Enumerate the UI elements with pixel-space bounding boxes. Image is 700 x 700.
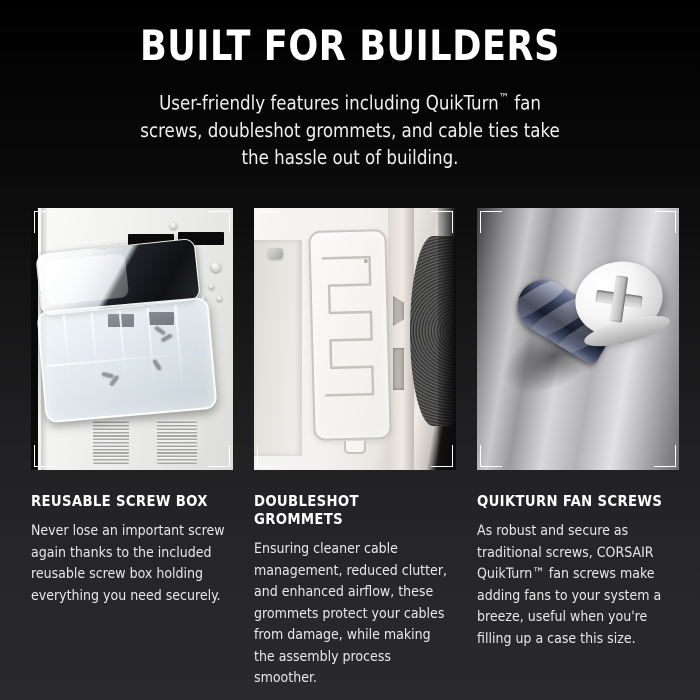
doubleshot-grommet [308, 229, 391, 441]
subtitle-part-1: User-friendly features including QuikTur… [159, 92, 499, 115]
feature-body: Never lose an important screw again than… [31, 520, 225, 606]
feature-body: Ensuring cleaner cable management, reduc… [254, 538, 448, 689]
feature-title: REUSABLE SCREW BOX [31, 492, 223, 510]
page-subtitle: User-friendly features including QuikTur… [127, 85, 574, 171]
quikturn-fan-screw [501, 244, 661, 434]
screw-box-photo [31, 208, 233, 470]
fan-screw-image-panel [477, 208, 679, 470]
grommet-photo [254, 208, 456, 470]
feature-column-doubleshot-grommets: DOUBLESHOT GROMMETS Ensuring cleaner cab… [254, 208, 456, 689]
screw-box-tray [36, 297, 217, 424]
grommet-zigzag-slits [319, 241, 382, 428]
trademark-symbol: ™ [499, 91, 509, 105]
marketing-banner: BUILT FOR BUILDERS User-friendly feature… [0, 0, 700, 700]
page-title: BUILT FOR BUILDERS [25, 24, 676, 68]
grommet-image-panel [254, 208, 456, 470]
screw-box-image-panel [31, 208, 233, 470]
feature-title: QUIKTURN FAN SCREWS [477, 492, 669, 510]
feature-body: As robust and secure as traditional scre… [477, 520, 671, 649]
feature-columns: REUSABLE SCREW BOX Never lose an importa… [0, 208, 700, 689]
feature-column-quikturn-fan-screws: QUIKTURN FAN SCREWS As robust and secure… [477, 208, 679, 689]
feature-title: DOUBLESHOT GROMMETS [254, 492, 446, 528]
feature-column-reusable-screw-box: REUSABLE SCREW BOX Never lose an importa… [31, 208, 233, 689]
fan-screw-photo [477, 208, 679, 470]
header: BUILT FOR BUILDERS User-friendly feature… [0, 0, 700, 171]
